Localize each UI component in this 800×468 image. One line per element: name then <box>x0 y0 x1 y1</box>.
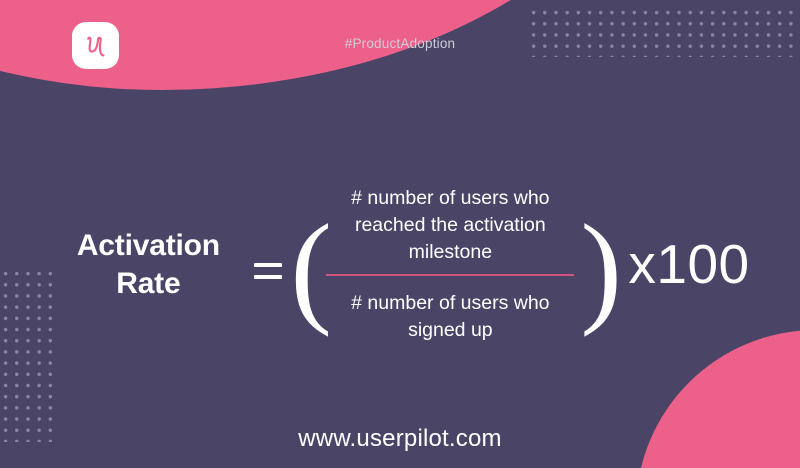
formula-multiplier: x100 <box>628 237 749 292</box>
formula-fraction: # number of users who reached the activa… <box>322 185 578 344</box>
equals-sign <box>246 220 290 310</box>
fraction-numerator: # number of users who reached the activa… <box>322 185 578 274</box>
formula-label: Activation Rate <box>50 227 246 302</box>
equals-bar-upper <box>254 263 282 267</box>
equals-bar-lower <box>254 275 282 279</box>
fraction-denominator: # number of users who signed up <box>322 276 578 344</box>
footer-website-url[interactable]: www.userpilot.com <box>0 425 800 453</box>
infographic-canvas: #ProductAdoption Activation Rate ( # num… <box>0 0 800 468</box>
activation-rate-formula: Activation Rate ( # number of users who … <box>0 172 800 357</box>
hashtag-label: #ProductAdoption <box>0 36 800 51</box>
